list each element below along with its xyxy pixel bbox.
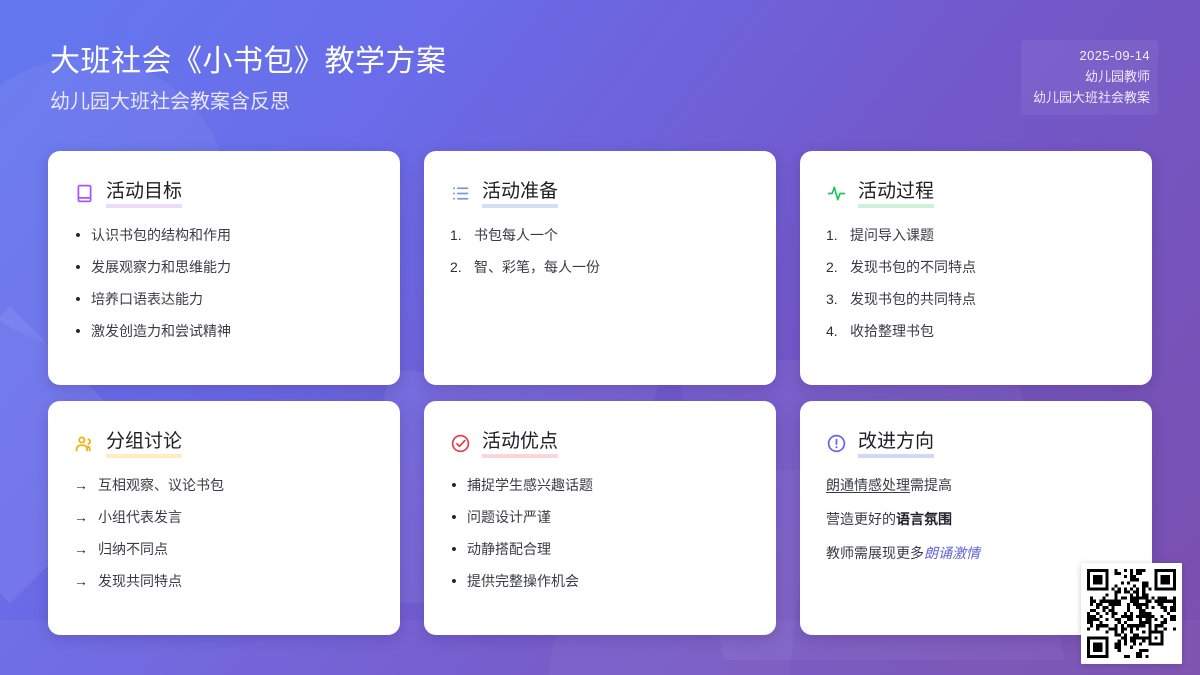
list-item: 1.书包每人一个 [450,226,750,245]
alert-circle-icon [826,433,847,454]
list-item: →归纳不同点 [74,540,374,559]
list-item: •发展观察力和思维能力 [74,258,374,277]
book-icon [74,183,95,204]
list-item: →发现共同特点 [74,572,374,591]
list-item-text: 提供完整操作机会 [467,572,579,591]
list-item-text: 书包每人一个 [474,226,558,245]
card-title: 改进方向 [858,431,934,456]
list-item: •动静搭配合理 [450,540,750,559]
text-segment-italic: 朗诵激情 [924,545,980,561]
list-item: •问题设计严谨 [450,508,750,527]
card-header: 活动优点 [450,431,750,456]
list-item: •培养口语表达能力 [74,290,374,309]
slide-header: 大班社会《小书包》教学方案 幼儿园大班社会教案含反思 2025-09-14 幼儿… [0,0,1200,150]
list-item-text: 发展观察力和思维能力 [91,258,231,277]
card-header: 改进方向 [826,431,1126,456]
card-item-list: •捕捉学生感兴趣话题•问题设计严谨•动静搭配合理•提供完整操作机会 [450,476,750,591]
card-item-list: •认识书包的结构和作用•发展观察力和思维能力•培养口语表达能力•激发创造力和尝试… [74,226,374,341]
list-item-text: 认识书包的结构和作用 [91,226,231,245]
card-activity-goals: 活动目标•认识书包的结构和作用•发展观察力和思维能力•培养口语表达能力•激发创造… [48,151,400,385]
list-item-text: 收拾整理书包 [850,322,934,341]
bullet-marker: • [450,540,458,559]
arrow-marker: → [74,540,89,559]
meta-date: 2025-09-14 [1033,45,1150,66]
text-segment-plain: 教师需展现更多 [826,545,924,561]
list-item-text: 互相观察、议论书包 [98,476,224,495]
list-item-text: 提问导入课题 [850,226,934,245]
users-icon [74,433,95,454]
list-item-text: 发现书包的共同特点 [850,290,976,309]
card-header: 活动准备 [450,181,750,206]
number-marker: 2. [450,258,465,277]
arrow-marker: → [74,572,89,591]
list-item-text: 发现书包的不同特点 [850,258,976,277]
list-item: •激发创造力和尝试精神 [74,322,374,341]
text-segment-plain: 营造更好的 [826,511,896,527]
card-activity-preparation: 活动准备1.书包每人一个2.智、彩笔，每人一份 [424,151,776,385]
list-item-text: 培养口语表达能力 [91,290,203,309]
list-item: 2.智、彩笔，每人一份 [450,258,750,277]
number-marker: 1. [826,226,841,245]
list-item-text: 动静搭配合理 [467,540,551,559]
number-marker: 3. [826,290,841,309]
list-item: •认识书包的结构和作用 [74,226,374,245]
list-item-text: 激发创造力和尝试精神 [91,322,231,341]
bullet-marker: • [74,290,82,309]
card-item-list: 1.提问导入课题2.发现书包的不同特点3.发现书包的共同特点4.收拾整理书包 [826,226,1126,341]
text-segment-plain: 需提高 [910,477,952,493]
title-block: 大班社会《小书包》教学方案 幼儿园大班社会教案含反思 [50,42,447,116]
card-header: 活动目标 [74,181,374,206]
list-item: 4.收拾整理书包 [826,322,1126,341]
list-item-text: 小组代表发言 [98,508,182,527]
rich-text-line: 教师需展现更多朗诵激情 [826,544,1126,563]
card-activity-process: 活动过程1.提问导入课题2.发现书包的不同特点3.发现书包的共同特点4.收拾整理… [800,151,1152,385]
qr-code[interactable] [1081,563,1182,664]
card-header: 活动过程 [826,181,1126,206]
bullet-marker: • [74,258,82,277]
card-activity-merits: 活动优点•捕捉学生感兴趣话题•问题设计严谨•动静搭配合理•提供完整操作机会 [424,401,776,635]
bullet-marker: • [74,226,82,245]
list-icon [450,183,471,204]
arrow-marker: → [74,508,89,527]
slide-canvas: 大班社会《小书包》教学方案 幼儿园大班社会教案含反思 2025-09-14 幼儿… [0,0,1200,675]
activity-pulse-icon [826,183,847,204]
bullet-marker: • [74,322,82,341]
qr-code-image [1087,569,1176,658]
list-item: •捕捉学生感兴趣话题 [450,476,750,495]
rich-text-line: 营造更好的语言氛围 [826,510,1126,529]
card-title: 分组讨论 [106,431,182,456]
list-item: →互相观察、议论书包 [74,476,374,495]
list-item: 1.提问导入课题 [826,226,1126,245]
rich-text-line: 朗通情感处理需提高 [826,476,1126,495]
list-item-text: 智、彩笔，每人一份 [474,258,600,277]
card-grid: 活动目标•认识书包的结构和作用•发展观察力和思维能力•培养口语表达能力•激发创造… [48,151,1152,628]
meta-author: 幼儿园教师 [1033,66,1150,87]
text-segment-bold: 语言氛围 [896,511,952,527]
header-meta: 2025-09-14 幼儿园教师 幼儿园大班社会教案 [1021,40,1158,115]
bullet-marker: • [450,508,458,527]
list-item: •提供完整操作机会 [450,572,750,591]
list-item-text: 捕捉学生感兴趣话题 [467,476,593,495]
list-item-text: 归纳不同点 [98,540,168,559]
list-item-text: 问题设计严谨 [467,508,551,527]
text-segment-underline: 朗通情感处理 [826,477,910,493]
bullet-marker: • [450,572,458,591]
arrow-marker: → [74,476,89,495]
list-item: 3.发现书包的共同特点 [826,290,1126,309]
card-title: 活动优点 [482,431,558,456]
meta-category: 幼儿园大班社会教案 [1033,87,1150,108]
card-header: 分组讨论 [74,431,374,456]
rich-text-list: 朗通情感处理需提高营造更好的语言氛围教师需展现更多朗诵激情 [826,476,1126,563]
list-item: 2.发现书包的不同特点 [826,258,1126,277]
list-item: →小组代表发言 [74,508,374,527]
card-title: 活动准备 [482,181,558,206]
page-title: 大班社会《小书包》教学方案 [50,42,447,82]
number-marker: 1. [450,226,465,245]
page-subtitle: 幼儿园大班社会教案含反思 [50,89,447,116]
number-marker: 4. [826,322,841,341]
card-item-list: →互相观察、议论书包→小组代表发言→归纳不同点→发现共同特点 [74,476,374,591]
card-item-list: 1.书包每人一个2.智、彩笔，每人一份 [450,226,750,277]
list-item-text: 发现共同特点 [98,572,182,591]
card-title: 活动过程 [858,181,934,206]
bullet-marker: • [450,476,458,495]
card-title: 活动目标 [106,181,182,206]
card-group-discussion: 分组讨论→互相观察、议论书包→小组代表发言→归纳不同点→发现共同特点 [48,401,400,635]
number-marker: 2. [826,258,841,277]
check-circle-icon [450,433,471,454]
